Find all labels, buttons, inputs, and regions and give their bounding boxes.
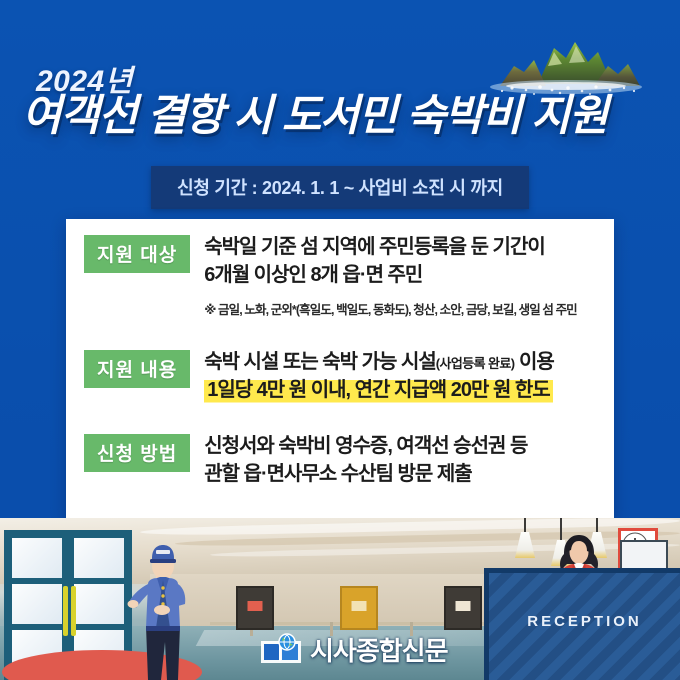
poster-root: 2024년 여객선 결항 시 도서민 숙박비 지원 신청 기간 : 2024. … <box>0 0 680 680</box>
section-support-target: 지원 대상 숙박일 기준 섬 지역에 주민등록을 둔 기간이 6개월 이상인 8… <box>66 233 614 318</box>
line-part-tail: 이용 <box>514 351 553 373</box>
line-part-small: (사업등록 완료) <box>436 356 515 371</box>
highlighted-amount: 1일당 4만 원 이내, 연간 지급액 20만 원 한도 <box>204 376 553 404</box>
door-pane <box>12 584 62 624</box>
bellhop-doorman-icon <box>126 538 198 680</box>
badge-application-method: 신청 방법 <box>84 434 190 472</box>
door-plate <box>248 601 263 611</box>
section-line: 6개월 이상인 8개 읍·면 주민 <box>204 261 604 289</box>
door-handle[interactable] <box>71 586 76 636</box>
badge-support-content: 지원 내용 <box>84 350 190 388</box>
railing-post <box>330 622 333 636</box>
section-support-content: 지원 내용 숙박 시설 또는 숙박 가능 시설(사업등록 완료) 이용 1일당 … <box>66 348 614 405</box>
island-photo-icon <box>442 22 662 102</box>
info-card: 지원 대상 숙박일 기준 섬 지역에 주민등록을 둔 기간이 6개월 이상인 8… <box>66 219 614 519</box>
door-handle[interactable] <box>63 586 68 636</box>
section-line: 숙박 시설 또는 숙박 가능 시설(사업등록 완료) 이용 <box>204 348 604 376</box>
page-title: 여객선 결항 시 도서민 숙박비 지원 <box>22 95 662 138</box>
section-line: 숙박일 기준 섬 지역에 주민등록을 둔 기간이 <box>204 233 604 261</box>
hallway-door <box>444 586 482 630</box>
hallway-door <box>340 586 378 630</box>
railing-post <box>410 622 413 636</box>
line-part-main: 숙박 시설 또는 숙박 가능 시설 <box>204 351 436 373</box>
door-plate <box>352 601 367 611</box>
section-body: 숙박 시설 또는 숙박 가능 시설(사업등록 완료) 이용 1일당 4만 원 이… <box>204 348 604 405</box>
badge-support-target: 지원 대상 <box>84 235 190 273</box>
application-period-banner: 신청 기간 : 2024. 1. 1 ~ 사업비 소진 시 까지 <box>151 166 529 209</box>
period-banner-wrap: 신청 기간 : 2024. 1. 1 ~ 사업비 소진 시 까지 <box>0 166 680 209</box>
section-line: 신청서와 숙박비 영수증, 여객선 승선권 등 <box>204 432 604 460</box>
door-plate <box>456 601 471 611</box>
section-body: 숙박일 기준 섬 지역에 주민등록을 둔 기간이 6개월 이상인 8개 읍·면 … <box>204 233 604 318</box>
reception-label: RECEPTION <box>489 613 680 630</box>
door-pane <box>74 584 124 624</box>
door-pane <box>74 538 124 578</box>
reception-desk: RECEPTION <box>484 568 680 680</box>
section-line: 관할 읍·면사무소 수산팀 방문 제출 <box>204 460 604 488</box>
glass-double-doors-icon <box>4 530 132 680</box>
section-note: ※ 금일, 노화, 군외*(흑일도, 백일도, 동화도), 청산, 소안, 금당… <box>204 299 604 318</box>
lamp-cord <box>524 518 526 532</box>
section-application-method: 신청 방법 신청서와 숙박비 영수증, 여객선 승선권 등 관할 읍·면사무소 … <box>66 432 614 489</box>
section-line-highlighted: 1일당 4만 원 이내, 연간 지급액 20만 원 한도 <box>204 376 604 404</box>
hallway-door <box>236 586 274 630</box>
poster-header: 2024년 여객선 결항 시 도서민 숙박비 지원 신청 기간 : 2024. … <box>0 0 680 215</box>
hotel-lobby-illustration: RECEPTION <box>0 518 680 680</box>
section-body: 신청서와 숙박비 영수증, 여객선 승선권 등 관할 읍·면사무소 수산팀 방문… <box>204 432 604 489</box>
door-pane <box>12 538 62 578</box>
